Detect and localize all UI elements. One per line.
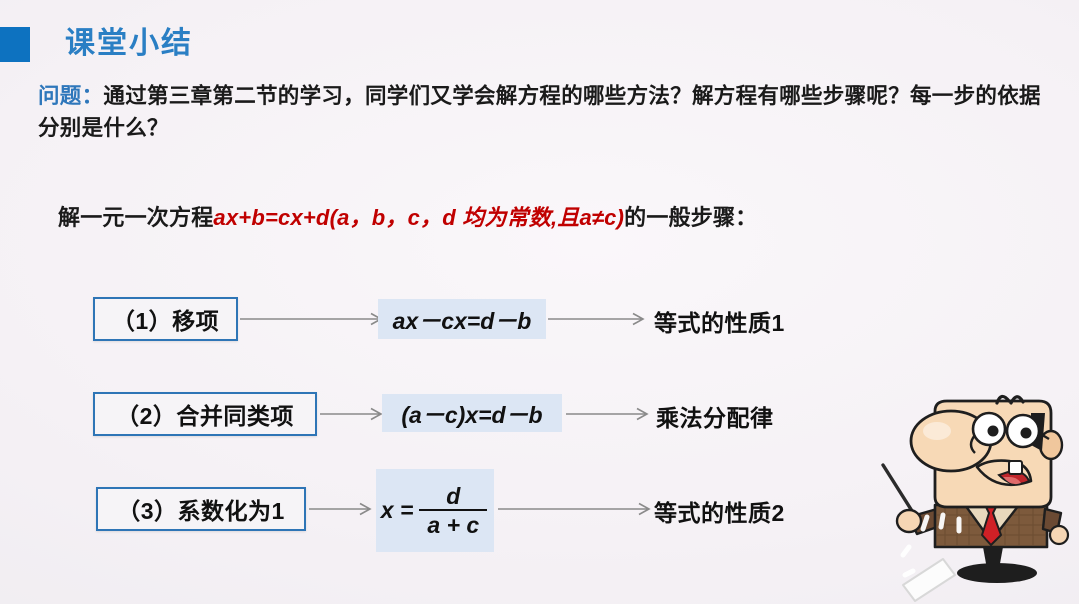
question-label: 问题：	[38, 84, 103, 108]
reason-label-3: 等式的性质2	[654, 494, 785, 528]
statement-line: 解一元一次方程ax+b=cx+d(a，b，c，d 均为常数,且a≠c)的一般步骤…	[58, 200, 757, 232]
fraction-numerator-3: d	[438, 484, 468, 509]
equation-lhs-3: x =	[381, 497, 414, 524]
arrow-step3-to-equation	[309, 502, 375, 516]
statement-suffix: 的一般步骤：	[624, 205, 757, 230]
fraction-denominator-3: a + c	[419, 511, 487, 537]
arrow-equation-to-reason-2	[566, 407, 652, 421]
step-box-3[interactable]: （3）系数化为1	[96, 487, 306, 531]
arrow-equation-to-reason-3	[498, 502, 654, 516]
arrow-equation-to-reason-1	[548, 312, 648, 326]
reason-label-2: 乘法分配律	[656, 399, 774, 433]
statement-prefix: 解一元一次方程	[58, 205, 213, 230]
arrow-step1-to-equation	[240, 312, 386, 326]
cartoon-teacher-illustration	[879, 389, 1079, 604]
step-box-1[interactable]: （1）移项	[93, 297, 238, 341]
equation-chip-1: ax－cx=d－b	[378, 299, 546, 339]
page-title: 课堂小结	[65, 24, 193, 64]
question-paragraph: 问题：通过第三章第二节的学习，同学们又学会解方程的哪些方法？解方程有哪些步骤呢？…	[38, 80, 1058, 144]
equation-chip-2: (a－c)x=d－b	[382, 394, 562, 432]
step-box-2[interactable]: （2）合并同类项	[93, 392, 317, 436]
fraction-3: d a + c	[419, 484, 487, 537]
arrow-step2-to-equation	[320, 407, 386, 421]
title-accent-marker	[0, 27, 30, 62]
equation-chip-3: x = d a + c	[376, 469, 494, 552]
reason-label-1: 等式的性质1	[654, 304, 785, 338]
statement-equation: ax+b=cx+d(a，b，c，d 均为常数,且a≠c)	[213, 205, 624, 230]
question-text: 通过第三章第二节的学习，同学们又学会解方程的哪些方法？解方程有哪些步骤呢？每一步…	[38, 84, 1041, 140]
slide-canvas: 课堂小结 问题：通过第三章第二节的学习，同学们又学会解方程的哪些方法？解方程有哪…	[0, 0, 1079, 604]
